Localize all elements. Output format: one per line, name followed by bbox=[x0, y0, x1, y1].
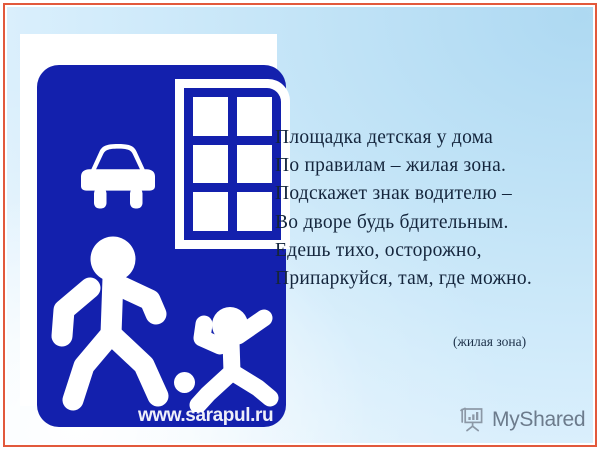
window-pane bbox=[193, 97, 228, 136]
ball-icon bbox=[174, 372, 195, 393]
window-pane bbox=[237, 192, 272, 231]
presentation-board-icon bbox=[459, 406, 486, 433]
child-playing-icon bbox=[188, 302, 280, 412]
poem-line: Едешь тихо, осторожно, bbox=[275, 237, 587, 265]
poem-line: Припаркуйся, там, где можно. bbox=[275, 265, 587, 293]
building-body bbox=[184, 88, 281, 240]
window-pane bbox=[193, 145, 228, 184]
myshared-wordmark: MyShared bbox=[492, 408, 585, 432]
window-pane bbox=[237, 145, 272, 184]
sign-watermark: www.sarapul.ru bbox=[138, 405, 298, 429]
building-icon bbox=[175, 79, 290, 249]
slide-canvas: www.sarapul.ru Площадка детская у дома П… bbox=[7, 7, 593, 443]
poem-line: Подскажет знак водителю – bbox=[275, 180, 587, 208]
window-pane bbox=[193, 192, 228, 231]
myshared-logo[interactable]: MyShared bbox=[459, 406, 585, 433]
poem-text: Площадка детская у дома По правилам – жи… bbox=[275, 124, 587, 293]
poem-line: Во дворе будь бдительным. bbox=[275, 209, 587, 237]
car-icon bbox=[75, 142, 161, 214]
poem-caption: (жилая зона) bbox=[453, 334, 526, 350]
pedestrian-adult-icon bbox=[50, 230, 185, 412]
slide-root: www.sarapul.ru Площадка детская у дома П… bbox=[0, 0, 600, 450]
window-pane bbox=[237, 97, 272, 136]
slide-frame-border: www.sarapul.ru Площадка детская у дома П… bbox=[3, 3, 597, 447]
poem-line: Площадка детская у дома bbox=[275, 124, 587, 152]
poem-line: По правилам – жилая зона. bbox=[275, 152, 587, 180]
road-sign-plate: www.sarapul.ru bbox=[20, 34, 277, 406]
